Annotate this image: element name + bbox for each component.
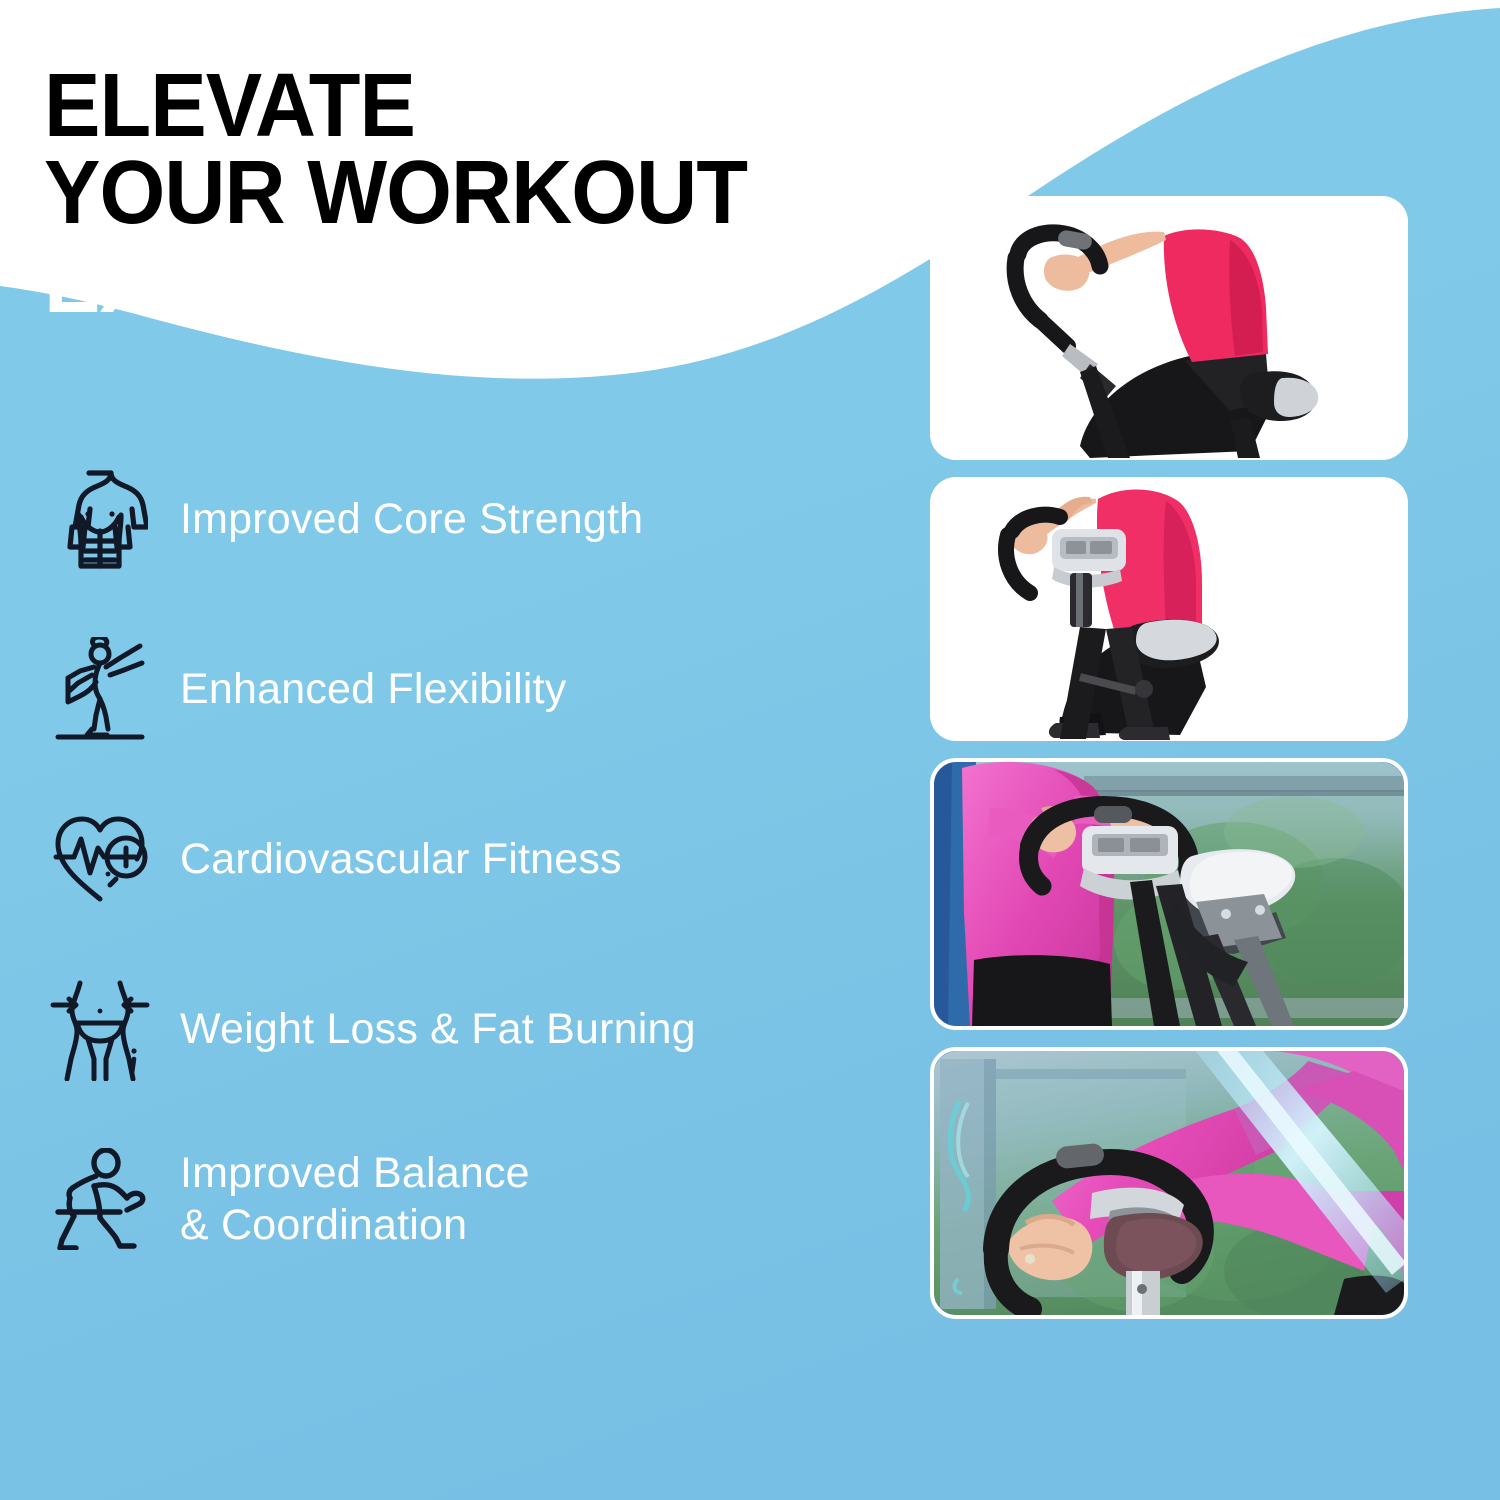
benefit-item-core-strength: Improved Core Strength (44, 452, 804, 586)
photo-card-handlebar-closeup[interactable] (930, 1047, 1408, 1319)
abs-torso-icon (44, 460, 156, 578)
headline-line-2: YOUR WORKOUT (44, 153, 747, 234)
photo-card-seated-rear-view[interactable] (930, 477, 1408, 741)
photo-image (930, 196, 1408, 460)
benefit-label: Improved Balance & Coordination (180, 1147, 530, 1252)
running-figure-icon (44, 1140, 156, 1258)
page-title: ELEVATE YOUR WORKOUT EXPERIENCE (44, 66, 792, 323)
benefit-label: Cardiovascular Fitness (180, 833, 622, 885)
benefit-label: Weight Loss & Fat Burning (180, 1003, 696, 1055)
benefit-item-cardio: Cardiovascular Fitness (44, 792, 804, 926)
photo-image (934, 1051, 1404, 1315)
benefit-item-weight-loss: Weight Loss & Fat Burning (44, 962, 804, 1096)
benefit-label: Enhanced Flexibility (180, 663, 566, 715)
photo-image (934, 762, 1404, 1026)
waistline-arrows-icon (44, 970, 156, 1088)
photo-card-seated-side-view[interactable] (930, 196, 1408, 460)
photo-image (930, 477, 1408, 741)
heart-pulse-plus-icon (44, 800, 156, 918)
benefits-list: Improved Core Strength (44, 452, 804, 1266)
benefit-label: Improved Core Strength (180, 493, 643, 545)
stretching-figure-icon (44, 630, 156, 748)
headline-line-3: EXPERIENCE (44, 242, 747, 323)
product-photo-gallery (930, 196, 1408, 1319)
benefit-item-flexibility: Enhanced Flexibility (44, 622, 804, 756)
photo-card-console-grip[interactable] (930, 758, 1408, 1030)
headline-line-1: ELEVATE (44, 66, 747, 147)
benefit-item-balance: Improved Balance & Coordination (44, 1132, 804, 1266)
